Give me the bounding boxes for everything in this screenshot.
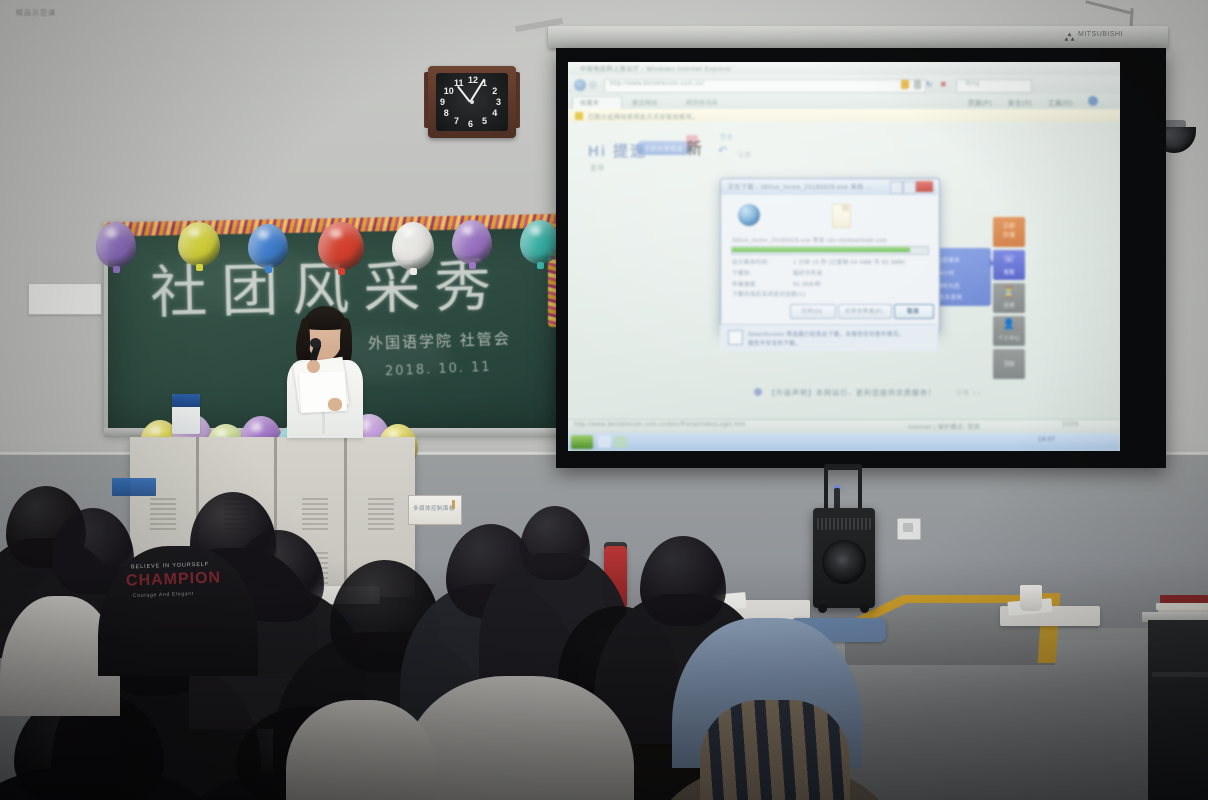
sidebar-top-label: 顶部 <box>993 360 1025 368</box>
audience-member-body <box>700 700 850 800</box>
open-folder-button-label: 打开文件夹(F) <box>838 307 890 315</box>
taskbar-icon-1[interactable] <box>598 436 611 448</box>
clock-numeral: 2 <box>492 87 497 96</box>
user-icon: 👤 <box>993 319 1025 330</box>
presenter-hand-right <box>307 360 320 373</box>
locker-vent <box>302 498 328 532</box>
smartscreen-line-1: SmartScreen 筛选器已检查此下载，未报告任何意外情况。 <box>748 330 904 338</box>
clock-numeral: 8 <box>444 109 449 118</box>
clock-numeral: 9 <box>440 98 445 107</box>
page-announcement-more[interactable]: 详情 >> <box>956 388 982 397</box>
projector-brand-label: MITSUBISHI <box>1078 31 1123 38</box>
progress-bar-fill <box>732 247 910 252</box>
balloon-top <box>452 220 492 264</box>
forward-icon[interactable] <box>589 81 597 89</box>
menu-security[interactable]: 安全(S) <box>1008 97 1032 107</box>
ie-window-title: 中国电信网上营业厅 - Windows Internet Explorer <box>580 64 732 73</box>
speaker-dust-cap <box>836 554 852 570</box>
clock-numeral: 7 <box>454 117 459 126</box>
clock-numeral: 10 <box>444 87 454 96</box>
status-url: http://www.bestelecom.com.cn/bes/PortalI… <box>574 422 746 428</box>
balloon-top <box>520 220 560 264</box>
balloon-knot <box>410 268 417 275</box>
wall-notice-frame <box>28 283 102 315</box>
file-icon-fold <box>842 204 849 211</box>
wireless-microphone <box>834 488 840 510</box>
speaker-wheel <box>818 604 827 613</box>
balloon-top <box>178 222 220 266</box>
microphone-head <box>310 338 321 348</box>
warning-icon <box>575 112 583 120</box>
back-icon[interactable] <box>574 79 586 91</box>
balloon-knot <box>537 262 544 269</box>
balloon-knot <box>265 266 272 273</box>
balloon-top <box>392 222 434 270</box>
promo-cta-label: 立即办理提速 <box>636 144 691 153</box>
clock-numeral: 12 <box>468 76 478 85</box>
speaker-handle-left <box>824 468 828 510</box>
ie-notification-text: 已阻止此网站使用此方式安装加载项。 <box>588 112 699 121</box>
tab-label-1[interactable]: 建议网站 <box>632 98 658 107</box>
globe-icon <box>738 204 760 226</box>
dialog-row-value-0: 1 分钟 15 秒 (已复制 54 4MB 共 92.3MB) <box>793 258 905 266</box>
sidebar-promo-label: 立即办理 <box>993 223 1025 241</box>
taskbar-clock: 14:07 <box>1038 437 1056 443</box>
stop-icon[interactable]: ✕ <box>940 80 949 89</box>
taskbar-icon-2[interactable] <box>614 436 627 448</box>
status-zone: Internet | 保护模式: 禁用 <box>908 422 980 431</box>
phone-icon: ☏ <box>993 254 1025 265</box>
menu-tools[interactable]: 工具(O) <box>1048 97 1073 107</box>
av-control-led <box>452 500 455 509</box>
announcement-icon <box>754 388 762 396</box>
speaker-handle-top <box>824 464 862 470</box>
menu-page[interactable]: 页面(P) <box>968 97 992 107</box>
classroom-scene: 精品示范课 121234567891011 社团风采秀 外国语学院 社管会 20… <box>0 0 1208 800</box>
dialog-row-key-2: 传输速度: <box>732 280 758 288</box>
box-label <box>172 394 200 407</box>
sidebar-history-label: 足迹 <box>993 301 1025 309</box>
balloon-top <box>248 224 288 268</box>
cabinet-shelf <box>1152 672 1208 677</box>
shield-icon <box>728 330 743 345</box>
dialog-row-value-2: 56.3KB/秒 <box>793 280 821 288</box>
clock-numeral: 5 <box>482 117 487 126</box>
sub-link[interactable]: 宽带 <box>590 162 605 172</box>
dialog-row-key-1: 下载到: <box>732 269 752 277</box>
cancel-button-label: 取消 <box>894 307 932 315</box>
tab-label-2[interactable]: 网页快讯库 <box>686 98 718 107</box>
locker-vent <box>150 498 176 532</box>
locker-divider <box>344 437 347 597</box>
power-outlet-socket <box>903 523 913 532</box>
balloon-knot <box>469 262 476 269</box>
clock-numeral: 6 <box>468 120 473 129</box>
register-link[interactable]: 注册 <box>738 150 751 159</box>
shield-icon[interactable] <box>914 80 921 89</box>
clock-numeral: 4 <box>492 109 497 118</box>
sidebar-account-label: 个人中心 <box>993 334 1025 342</box>
locker-blue-label <box>112 478 156 496</box>
maximize-icon[interactable] <box>903 181 916 194</box>
address-bar-value: http://www.bestelecom.com.cn/ <box>610 81 704 87</box>
lock-icon <box>901 80 909 89</box>
jacket-text-main: CHAMPION <box>126 569 222 590</box>
wall-notice-text: 精品示范课 <box>0 8 72 18</box>
login-link[interactable]: 登录 <box>720 132 733 141</box>
tab-label-0: 收藏夹 <box>580 98 599 107</box>
start-button[interactable] <box>571 435 593 449</box>
balloon-knot <box>338 268 345 275</box>
close-on-complete-checkbox[interactable]: 下载完成后关闭该对话框(C) <box>732 290 806 298</box>
balloon-knot <box>113 266 120 273</box>
page-announcement: 【升级声明】本网站已、更利您提供优质服务！ <box>768 388 936 398</box>
minimize-icon[interactable] <box>890 181 903 194</box>
clock-icon: ⏳ <box>993 287 1025 298</box>
refresh-icon[interactable]: ↻ <box>926 80 935 89</box>
dialog-title: 正在下载 - 360se_home_20180425.exe 来自 ... <box>728 182 872 191</box>
book-stack-item <box>1160 595 1208 603</box>
clock-center-pin <box>470 100 474 104</box>
paper-cup <box>1020 585 1042 611</box>
projector-screen-case <box>548 26 1168 48</box>
new-badge: 新 <box>686 135 698 146</box>
speaker-wheel <box>860 604 869 613</box>
balloon-top <box>96 222 136 268</box>
search-placeholder: Bing <box>966 81 980 87</box>
dialog-row-value-1: 临时文件夹 <box>793 269 823 277</box>
dialog-row-key-0: 估计剩余时间: <box>732 258 769 266</box>
presenter-hand-left <box>328 398 342 411</box>
speaker-control-panel <box>817 518 871 530</box>
close-icon[interactable] <box>916 181 933 192</box>
download-filename: 360se_home_20180425.exe 来自 cdn.mydownloa… <box>732 236 887 244</box>
smartscreen-line-2[interactable]: 报告不安全的下载。 <box>748 339 801 347</box>
status-zoom-level[interactable]: 100% <box>1062 422 1079 428</box>
mitsubishi-logo-icon <box>1064 32 1075 42</box>
open-button-label: 打开(O) <box>790 307 834 315</box>
circle-arrow-icon[interactable]: ↶ <box>718 146 731 156</box>
balloon-top <box>318 222 364 270</box>
balloon-knot <box>196 264 203 271</box>
book-stack-item <box>1156 603 1208 610</box>
presenter-hair-left <box>299 318 310 364</box>
speaker-handle-right <box>858 468 862 510</box>
help-icon[interactable] <box>1088 96 1098 106</box>
projected-desktop: 中国电信网上营业厅 - Windows Internet Explorer ht… <box>568 62 1120 451</box>
clock-numeral: 3 <box>496 98 501 107</box>
locker-vent <box>368 498 394 532</box>
sidebar-phone-label: 客服 <box>993 268 1025 276</box>
side-cabinet <box>1148 620 1208 800</box>
